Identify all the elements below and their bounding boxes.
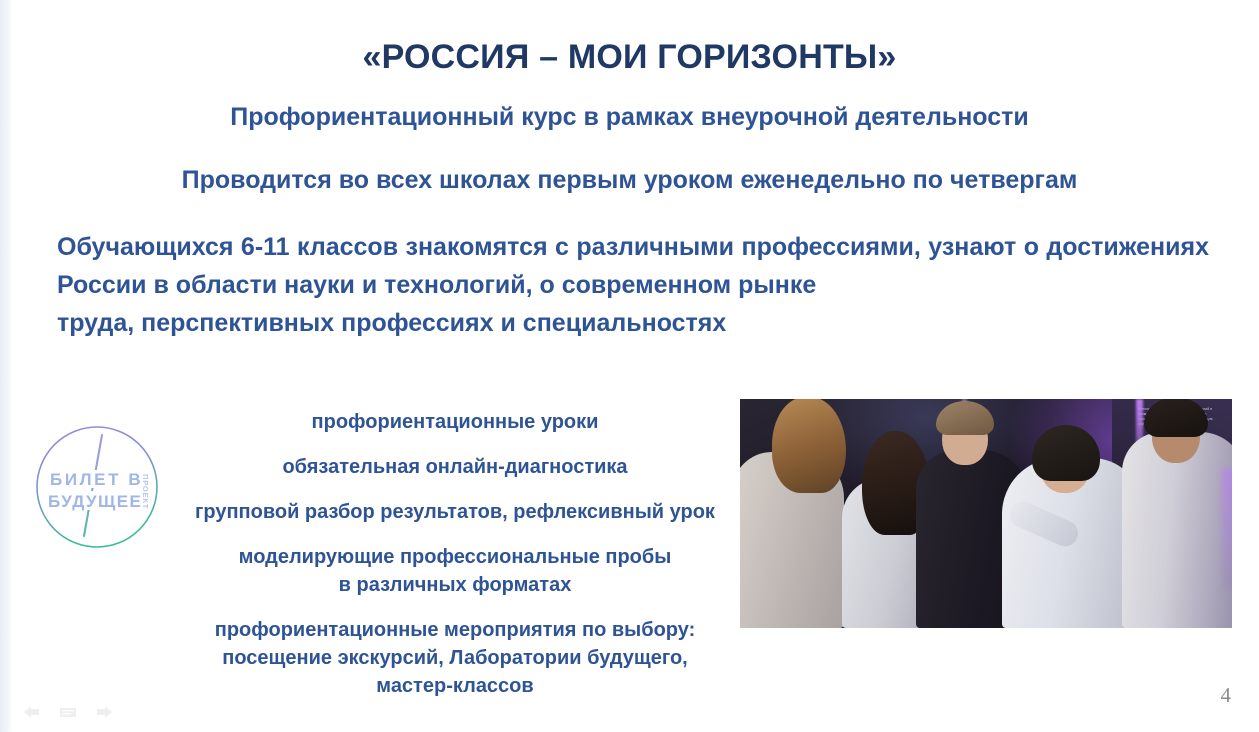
logo-line2-text: БУДУЩЕЕ [48, 492, 142, 511]
photo-student-5 [1122, 399, 1232, 628]
list-item: групповой разбор результатов, рефлексивн… [165, 498, 745, 526]
page-number: 4 [1221, 683, 1232, 708]
activity-line: групповой разбор результатов, рефлексивн… [165, 498, 745, 526]
bilet-v-budushchee-logo: БИЛЕТ В БУДУЩЕЕ ПРОЕКТ [28, 418, 166, 556]
prev-slide-icon[interactable] [22, 704, 42, 720]
students-at-interactive-screen-photo: Использование интерактивных технологий в… [740, 399, 1232, 628]
photo-student-5-sleeve-glow [1222, 469, 1232, 589]
lead-paragraph-last-line: труда, перспективных профессиях и специа… [57, 304, 1209, 342]
activity-line: профориентационные мероприятия по выбору… [165, 616, 745, 644]
photo-content: Использование интерактивных технологий в… [740, 399, 1232, 628]
photo-student-3-hair [936, 401, 994, 435]
slide-navigation-controls[interactable] [22, 704, 114, 720]
activities-list: профориентационные уроки обязательная он… [165, 408, 745, 700]
photo-student-1-hair [772, 399, 846, 493]
activity-line: профориентационные уроки [165, 408, 745, 436]
activity-line: моделирующие профессиональные пробы [165, 543, 745, 571]
activity-line: мастер-классов [165, 672, 745, 700]
lead-paragraph: Обучающихся 6-11 классов знакомятся с ра… [57, 228, 1209, 342]
photo-student-4-hair [1032, 425, 1100, 481]
activity-line: посещение экскурсий, Лаборатории будущег… [165, 644, 745, 672]
logo-line1-text: БИЛЕТ В [50, 470, 143, 489]
activity-line: в различных форматах [165, 571, 745, 599]
page-title: «РОССИЯ – МОИ ГОРИЗОНТЫ» [0, 38, 1259, 77]
presentation-slide: «РОССИЯ – МОИ ГОРИЗОНТЫ» Профориентацион… [0, 0, 1259, 732]
schedule-line: Проводится во всех школах первым уроком … [0, 166, 1259, 195]
logo-vertical-text: ПРОЕКТ [141, 474, 150, 509]
list-item: профориентационные уроки [165, 408, 745, 436]
activity-line: обязательная онлайн-диагностика [165, 453, 745, 481]
list-item: моделирующие профессиональные пробы в ра… [165, 543, 745, 599]
lead-paragraph-main: Обучающихся 6-11 классов знакомятся с ра… [57, 233, 1209, 299]
list-item: профориентационные мероприятия по выбору… [165, 616, 745, 700]
next-slide-icon[interactable] [94, 704, 114, 720]
list-item: обязательная онлайн-диагностика [165, 453, 745, 481]
photo-student-5-hair [1144, 399, 1208, 437]
slide-menu-icon[interactable] [58, 704, 78, 720]
course-subtitle: Профориентационный курс в рамках внеуроч… [0, 103, 1259, 132]
